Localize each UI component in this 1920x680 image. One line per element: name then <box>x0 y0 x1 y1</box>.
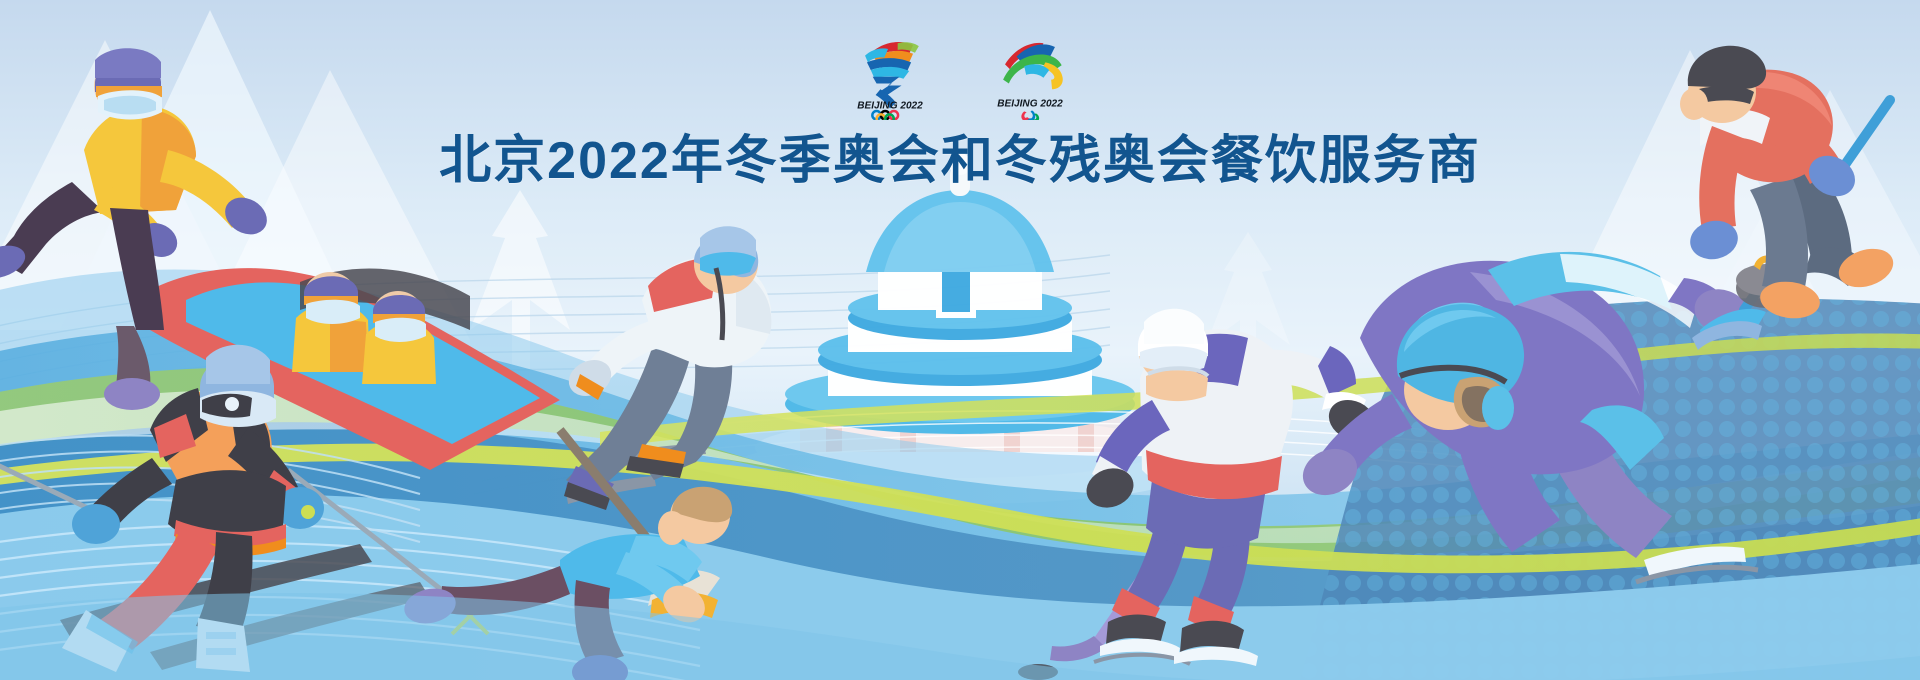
paralympic-wordmark: BEIJING 2022 <box>997 99 1063 110</box>
beijing-2022-paralympic-emblem: BEIJING 2022 <box>982 24 1078 120</box>
emblem-row: BEIJING 2022 BEI <box>0 24 1920 120</box>
olympic-emblem-ribbon <box>865 42 919 109</box>
beijing-2022-catering-banner: BEIJING 2022 BEI <box>0 0 1920 680</box>
paralympic-emblem-ribbon <box>1003 43 1063 89</box>
page-title: 北京2022年冬季奥会和冬残奥会餐饮服务商 <box>0 118 1920 193</box>
olympic-wordmark: BEIJING 2022 <box>857 100 923 111</box>
beijing-2022-olympic-emblem: BEIJING 2022 <box>842 24 938 120</box>
